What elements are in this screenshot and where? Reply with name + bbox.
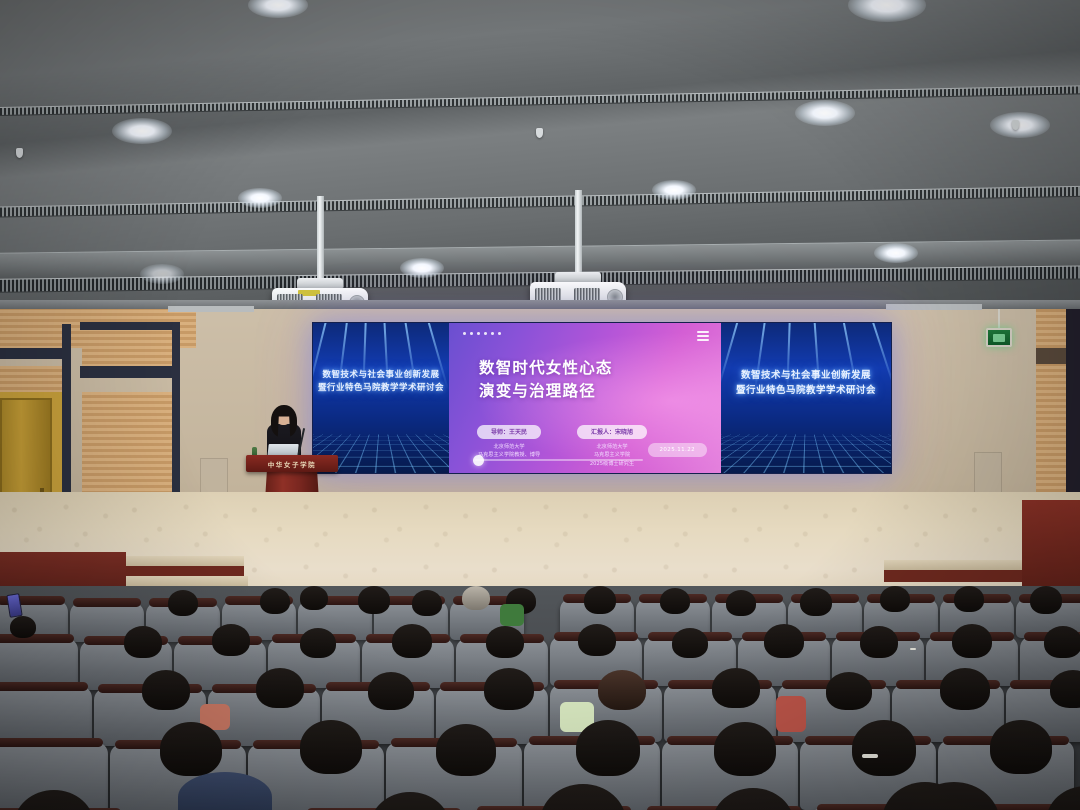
slide-title-line1: 数智时代女性心态 (479, 357, 613, 380)
audience-head (852, 720, 916, 776)
audience-head (1044, 626, 1080, 658)
presenter-pill: 汇报人：宋晓旭 (577, 425, 647, 439)
led-side-line1: 数智技术与社会事业创新发展 (313, 369, 449, 382)
audience-head (954, 586, 984, 612)
audience-head (714, 722, 776, 776)
audience-head (672, 628, 708, 658)
ceiling-vent-strip-2 (0, 185, 1080, 219)
slide-progress-bar[interactable] (475, 459, 643, 461)
led-side-line2: 暨行业特色马院教学学术研讨会 (721, 384, 891, 399)
audience-head (880, 586, 910, 612)
downlight-icon (652, 180, 696, 200)
led-side-line2: 暨行业特色马院教学学术研讨会 (313, 382, 449, 395)
audience-head (300, 720, 362, 774)
presenter-sub-line1: 北京师范大学 (577, 443, 647, 452)
sprinkler-head-icon (16, 148, 23, 158)
audience-head (712, 668, 760, 708)
stage-step (124, 556, 244, 566)
advisor-pill: 导师：王天民 (477, 425, 541, 439)
audience-head (260, 588, 290, 614)
downlight-icon (990, 112, 1050, 138)
audience-head (764, 624, 804, 658)
wall-trim (80, 366, 178, 378)
audience-head (436, 724, 496, 776)
projector-mount-pole (317, 196, 324, 282)
audience-head (800, 588, 832, 616)
downlight-icon (238, 188, 282, 208)
audience-head (300, 628, 336, 658)
audience-head (1030, 586, 1062, 614)
audience-head (584, 586, 616, 614)
advisor-sub: 北京师范大学 马克思主义学院教授、博导 (477, 443, 541, 460)
audience-badge (862, 754, 878, 758)
sprinkler-head-icon (536, 128, 543, 138)
led-side-title-right: 数智技术与社会事业创新发展 暨行业特色马院教学学术研讨会 (721, 369, 891, 398)
stage-step-riser (884, 570, 1034, 582)
audience-head (598, 670, 646, 710)
audience-head (10, 616, 36, 638)
audience-head (462, 586, 490, 610)
audience-head (168, 590, 198, 616)
advisor-sub-line1: 北京师范大学 (477, 443, 541, 452)
downlight-icon (400, 258, 444, 278)
ceiling-vent-strip-1 (0, 84, 1080, 117)
audience-head (142, 670, 190, 710)
led-side-line1: 数智技术与社会事业创新发展 (721, 369, 891, 384)
slide-title: 数智时代女性心态 演变与治理路径 (479, 357, 613, 404)
audience-head (726, 590, 756, 616)
presenter-sub: 北京师范大学 马克思主义学院 2025级博士研究生 (577, 443, 647, 469)
wall-light-fixture (886, 304, 982, 310)
audience-head (300, 586, 328, 610)
audience-head (578, 624, 616, 656)
led-side-title-left: 数智技术与社会事业创新发展 暨行业特色马院教学学术研讨会 (313, 369, 449, 395)
downlight-icon (795, 100, 855, 126)
stage-step-riser (124, 566, 244, 576)
led-grid-graphic (721, 434, 891, 473)
ceiling (0, 0, 1080, 330)
audience-head (256, 668, 304, 708)
audience-green-jacket (500, 604, 524, 626)
led-display-wall: 数智技术与社会事业创新发展 暨行业特色马院教学学术研讨会 数智时代女性心态 演变… (312, 322, 892, 474)
led-side-panel-left: 数智技术与社会事业创新发展 暨行业特色马院教学学术研讨会 (313, 323, 449, 473)
slide-title-line2: 演变与治理路径 (479, 380, 613, 403)
audience-head (412, 590, 442, 616)
hamburger-icon[interactable] (697, 331, 709, 344)
wall-trim (0, 348, 64, 359)
audience-head (940, 668, 990, 710)
audience-head (826, 672, 872, 710)
slide-date-badge: 2025.11.22 (648, 443, 708, 457)
seat (0, 686, 92, 744)
audience-head (1050, 670, 1080, 708)
seat (0, 638, 78, 688)
audience-head (484, 668, 534, 710)
audience-head (660, 588, 690, 614)
audience-head (212, 624, 250, 656)
sprinkler-head-icon (1012, 120, 1019, 130)
slide-credit-advisor: 导师：王天民 北京师范大学 马克思主义学院教授、博导 (477, 419, 541, 460)
audience-head (486, 626, 524, 658)
audience-head (368, 672, 414, 710)
downlight-icon (140, 264, 184, 284)
stage-step (112, 576, 248, 586)
downlight-icon (874, 243, 918, 263)
downlight-icon (112, 118, 172, 144)
audience-head (124, 626, 162, 658)
stage-step (884, 560, 1034, 570)
exit-sign (986, 328, 1012, 347)
projector-mount-pole (575, 190, 582, 276)
wall-light-fixture (168, 306, 254, 312)
audience-head (576, 720, 640, 776)
audience-head (952, 624, 992, 658)
wall-trim (80, 322, 180, 330)
led-side-panel-right: 数智技术与社会事业创新发展 暨行业特色马院教学学术研讨会 (721, 323, 891, 473)
audience-head (358, 586, 390, 614)
audience-head (392, 624, 432, 658)
downlight-icon (848, 0, 926, 22)
downlight-icon (248, 0, 308, 18)
audience-badge (910, 648, 916, 650)
audience-red-top (776, 696, 806, 732)
lectern-top: 中华女子学院 (246, 455, 338, 472)
audience-seating (0, 586, 1080, 810)
audience-head (160, 722, 222, 776)
presentation-slide: 数智时代女性心态 演变与治理路径 导师：王天民 北京师范大学 马克思主义学院教授… (449, 323, 721, 473)
slide-progress-knob[interactable] (473, 455, 484, 466)
audience-head (990, 720, 1052, 774)
lectern-engraved-label: 中华女子学院 (246, 459, 338, 469)
audience-head (860, 626, 898, 658)
auditorium-photo: 数智技术与社会事业创新发展 暨行业特色马院教学学术研讨会 数智时代女性心态 演变… (0, 0, 1080, 810)
slide-dots-indicator (463, 332, 501, 335)
wall-wood-panel (82, 328, 174, 370)
